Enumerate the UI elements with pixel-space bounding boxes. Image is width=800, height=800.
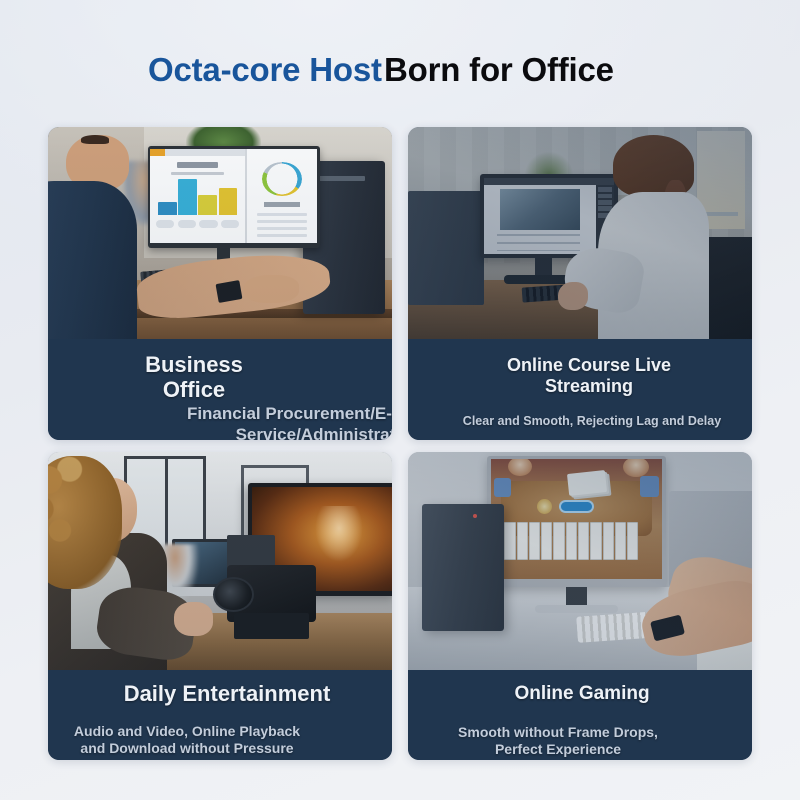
card-caption-daily-entertainment: Daily Entertainment Audio and Video, Onl…: [48, 670, 392, 760]
title-primary: Octa-core Host: [148, 48, 382, 92]
card-photo-business-office: [48, 127, 392, 339]
page-title: Octa-core Host Born for Office: [0, 48, 800, 96]
feature-card-online-course-live-streaming[interactable]: Online Course Live Streaming Clear and S…: [408, 127, 752, 440]
photo-tint-overlay: [408, 127, 752, 339]
card-photo-online-gaming: [408, 452, 752, 670]
photo-tint-overlay: [408, 452, 752, 670]
feature-card-online-gaming[interactable]: Online Gaming Smooth without Frame Drops…: [408, 452, 752, 760]
card-caption-online-gaming: Online Gaming Smooth without Frame Drops…: [408, 670, 752, 760]
card-title: Daily Entertainment: [48, 681, 392, 706]
feature-card-daily-entertainment[interactable]: Daily Entertainment Audio and Video, Onl…: [48, 452, 392, 760]
title-secondary: Born for Office: [384, 48, 614, 92]
card-title: Online Gaming: [408, 683, 752, 705]
card-subtitle: Financial Procurement/E-commerce Custome…: [48, 403, 392, 440]
card-photo-online-course: [408, 127, 752, 339]
card-subtitle: Smooth without Frame Drops, Perfect Expe…: [408, 724, 752, 758]
feature-card-grid: Business Office Financial Procurement/E-…: [48, 127, 752, 760]
card-caption-business-office: Business Office Financial Procurement/E-…: [48, 339, 392, 440]
card-title: Business Office: [48, 352, 392, 402]
card-photo-daily-entertainment: [48, 452, 392, 670]
card-caption-online-course: Online Course Live Streaming Clear and S…: [408, 339, 752, 440]
feature-card-business-office[interactable]: Business Office Financial Procurement/E-…: [48, 127, 392, 440]
photo-tint-overlay: [48, 452, 392, 670]
card-subtitle: Audio and Video, Online Playback and Dow…: [48, 723, 392, 757]
photo-tint-overlay: [48, 127, 392, 339]
card-subtitle: Clear and Smooth, Rejecting Lag and Dela…: [408, 414, 752, 429]
card-title: Online Course Live Streaming: [408, 355, 752, 397]
